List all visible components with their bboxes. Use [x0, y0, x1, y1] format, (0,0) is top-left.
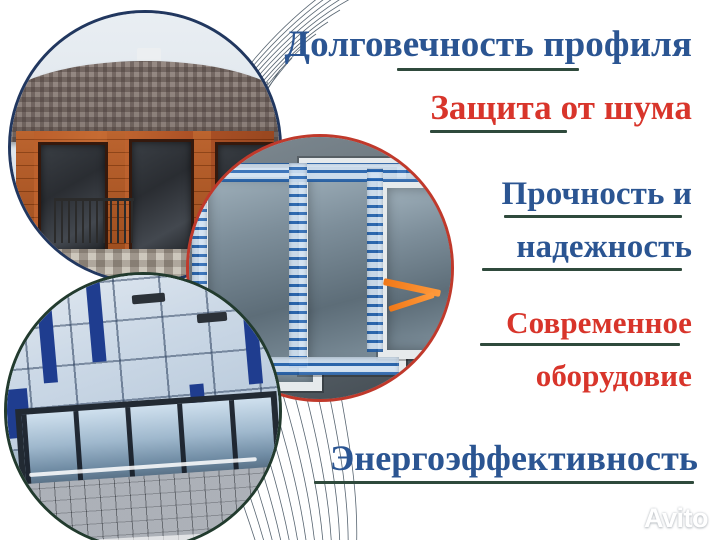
headline-line-1: Долговечность профиля — [285, 24, 692, 71]
headline-line-2-text: Защита от шума — [430, 88, 692, 128]
poster: Долговечность профиля Защита от шума Про… — [0, 0, 720, 540]
headline-underline-4 — [482, 268, 682, 271]
headline-line-4: надежность — [482, 228, 692, 271]
headline-line-3-text: Прочность и — [502, 175, 692, 213]
headline-underline-3 — [504, 215, 682, 218]
headline-underline-2 — [430, 130, 567, 133]
headline-line-5: Современное — [480, 305, 692, 346]
avito-logo-icon — [609, 506, 639, 532]
headline-line-7-text: Энергоэффективность — [314, 437, 698, 479]
headline-underline-7 — [314, 481, 694, 484]
headline-line-2: Защита от шума — [430, 88, 692, 133]
headline-underline-1 — [397, 68, 579, 71]
headline-line-1-text: Долговечность профиля — [285, 24, 692, 66]
avito-watermark-text: Avito — [644, 503, 708, 534]
headline-line-6: оборудовие — [536, 358, 692, 394]
headline-line-4-text: надежность — [482, 228, 692, 266]
headline-line-3: Прочность и — [502, 175, 692, 218]
headline-text-block: Долговечность профиля Защита от шума Про… — [236, 0, 706, 540]
headline-line-7: Энергоэффективность — [314, 437, 698, 484]
balcony-railing — [54, 198, 134, 244]
house-window — [129, 139, 194, 258]
headline-line-5-text: Современное — [480, 305, 692, 341]
headline-line-6-text: оборудовие — [536, 358, 692, 394]
headline-underline-5 — [480, 343, 680, 346]
avito-watermark: Avito — [609, 503, 708, 534]
